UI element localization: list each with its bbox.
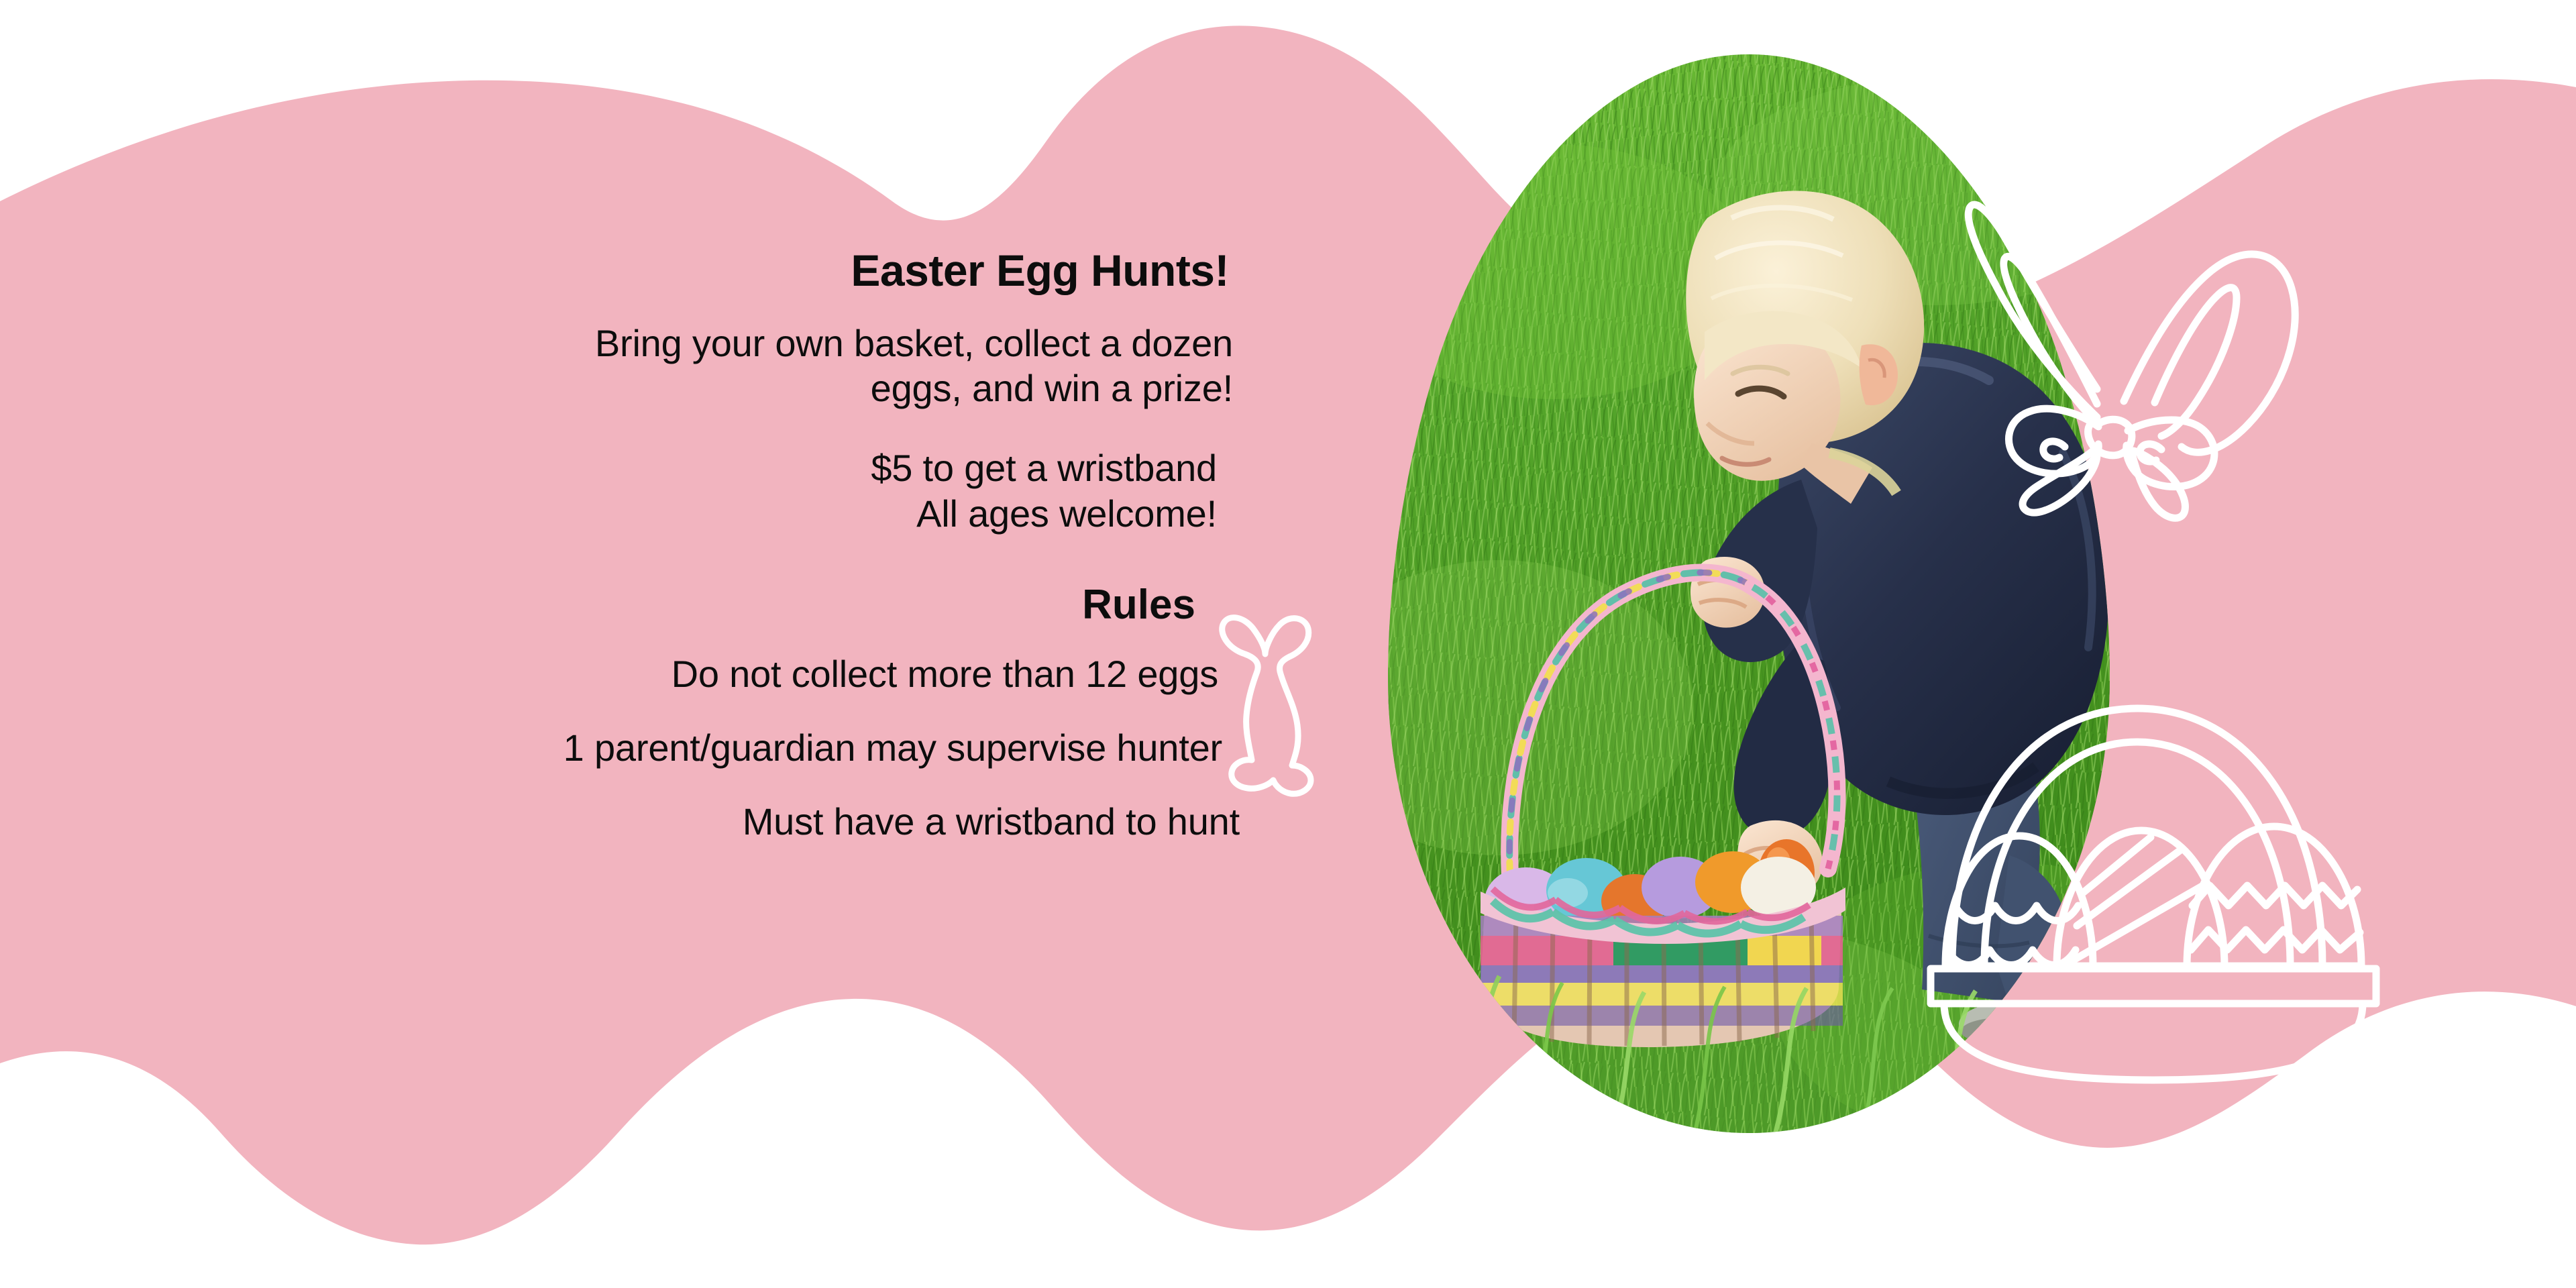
rule-item-2: 1 parent/guardian may supervise hunter (255, 729, 1254, 767)
price-paragraph: $5 to get a wristband All ages welcome! (255, 445, 1254, 535)
flyer-text-column: Easter Egg Hunts! Bring your own basket,… (255, 248, 1254, 841)
rule-item-3: Must have a wristband to hunt (255, 803, 1254, 841)
price-line-2: All ages welcome! (916, 492, 1217, 535)
price-line-1: $5 to get a wristband (871, 447, 1217, 489)
bunny-ears-bow-icon (1966, 188, 2328, 563)
rules-heading: Rules (255, 584, 1254, 626)
rule-item-1: Do not collect more than 12 eggs (255, 655, 1254, 693)
intro-line-1: Bring your own basket, collect a dozen (595, 322, 1233, 364)
page-title: Easter Egg Hunts! (255, 248, 1254, 292)
intro-paragraph: Bring your own basket, collect a dozen e… (255, 321, 1254, 411)
intro-line-2: eggs, and win a prize! (871, 367, 1233, 409)
easter-egg-hunt-flyer: Easter Egg Hunts! Bring your own basket,… (0, 0, 2576, 1288)
easter-basket-eggs-icon (1925, 684, 2381, 1080)
